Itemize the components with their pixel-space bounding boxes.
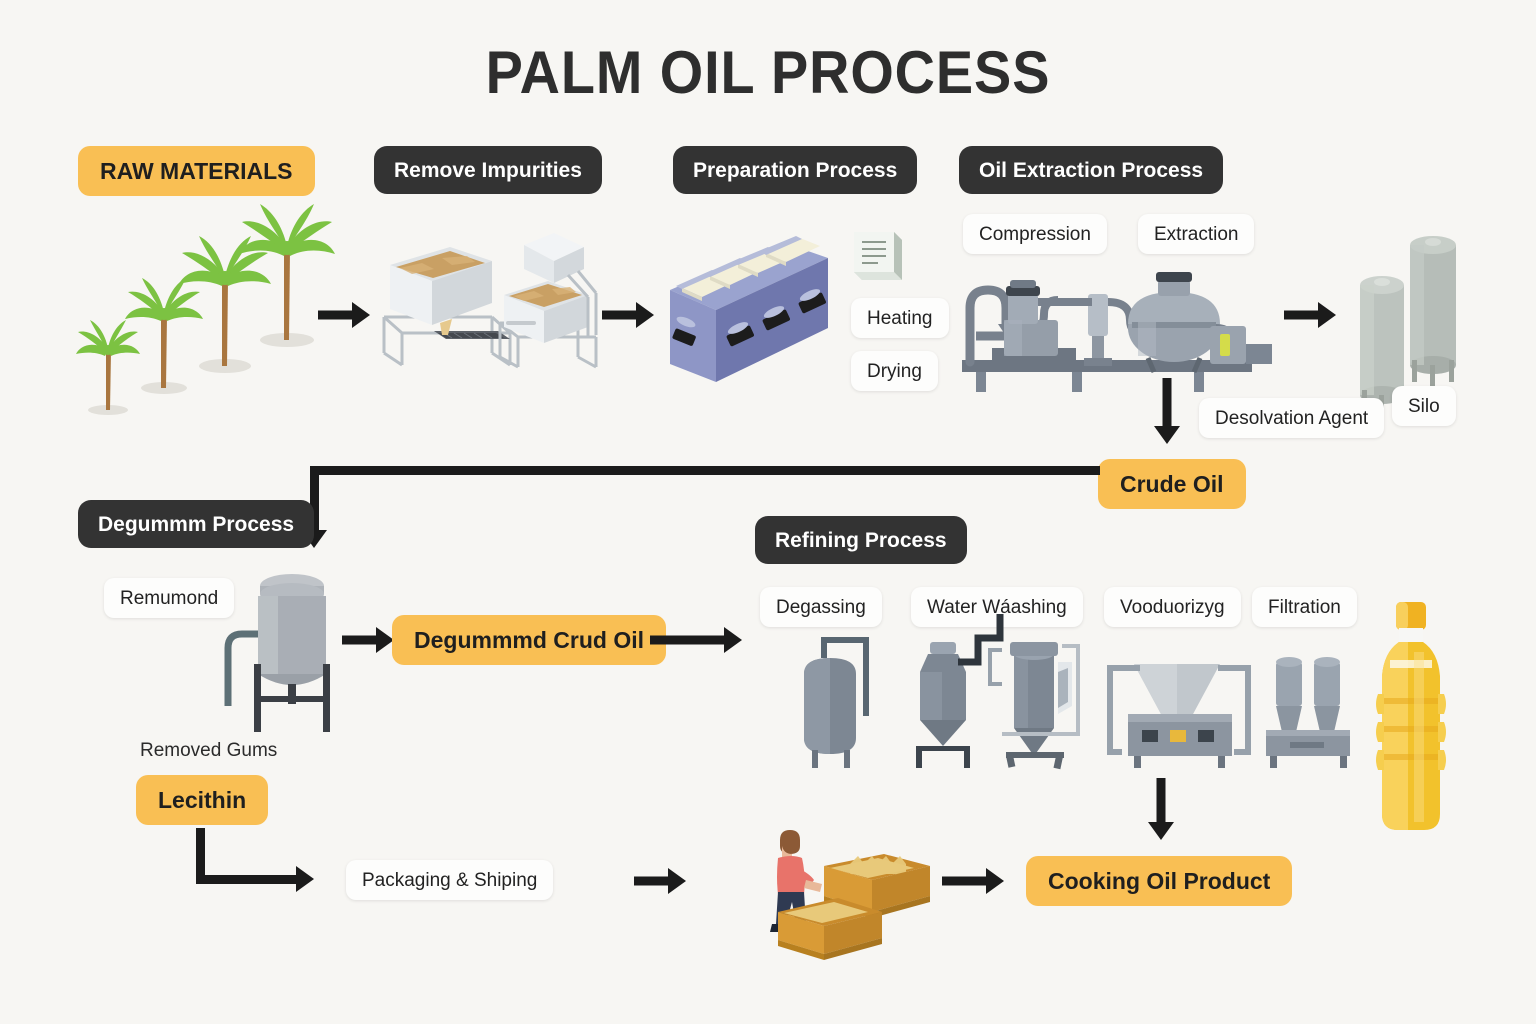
sub-label-drying[interactable]: Drying [851, 351, 938, 391]
sub-label-packaging-shipping[interactable]: Packaging & Shiping [346, 860, 553, 900]
oil-extraction-plant-illustration [962, 262, 1262, 392]
stage-pill-refining-process[interactable]: Refining Process [755, 516, 967, 564]
product-pill-degummed-crude-oil[interactable]: Degummmd Crud Oil [392, 615, 666, 665]
sub-label-desolvation-agent[interactable]: Desolvation Agent [1199, 398, 1384, 438]
sub-label-remumond[interactable]: Remumond [104, 578, 234, 618]
storage-silos-illustration [1342, 200, 1462, 400]
stage-pill-preparation-process[interactable]: Preparation Process [673, 146, 917, 194]
infographic-canvas: PALM OIL PROCESS RAW MATERIALS Remove Im… [0, 0, 1536, 1024]
sub-label-filtration[interactable]: Filtration [1252, 587, 1357, 627]
document-icon [848, 224, 908, 288]
flow-arrow-extraction-to-crude-oil [1152, 378, 1182, 444]
flow-arrow-extraction-to-silo [1284, 300, 1336, 330]
cooking-oil-bottle-illustration [1366, 598, 1456, 838]
product-pill-cooking-oil[interactable]: Cooking Oil Product [1026, 856, 1292, 906]
sub-label-removed-gums: Removed Gums [140, 740, 277, 762]
preparation-tray-unit-illustration [652, 224, 842, 394]
flow-connector-lecithin-to-packaging [196, 828, 336, 898]
stage-pill-degumming-process[interactable]: Degummm Process [78, 500, 314, 548]
product-pill-lecithin[interactable]: Lecithin [136, 775, 268, 825]
flow-connector-crude-oil-to-degumming [310, 466, 1110, 556]
flow-arrow-degumming-to-degummed-oil [342, 625, 394, 655]
flow-arrow-impurities-to-preparation [602, 300, 654, 330]
palm-trees-illustration [72, 228, 322, 418]
flow-arrow-degummed-oil-to-refining [650, 625, 742, 655]
flow-arrow-refining-to-cooking-oil [1146, 778, 1176, 840]
impurity-removal-machine-illustration [372, 225, 597, 370]
sub-label-compression[interactable]: Compression [963, 214, 1107, 254]
stage-pill-remove-impurities[interactable]: Remove Impurities [374, 146, 602, 194]
sub-label-extraction[interactable]: Extraction [1138, 214, 1254, 254]
stage-pill-raw-materials[interactable]: RAW MATERIALS [78, 146, 315, 196]
sub-label-degassing[interactable]: Degassing [760, 587, 882, 627]
sub-label-heating[interactable]: Heating [851, 298, 949, 338]
stage-pill-oil-extraction-process[interactable]: Oil Extraction Process [959, 146, 1223, 194]
sub-label-vooduorizyg[interactable]: Vooduorizyg [1104, 587, 1241, 627]
flow-arrow-raw-to-impurities [318, 300, 370, 330]
product-pill-crude-oil[interactable]: Crude Oil [1098, 459, 1246, 509]
refining-machines-illustration [762, 628, 1342, 768]
packaging-worker-crates-illustration [752, 820, 932, 960]
page-title: PALM OIL PROCESS [54, 38, 1482, 107]
sub-label-silo[interactable]: Silo [1392, 386, 1456, 426]
flow-arrow-worker-to-cooking-oil [942, 866, 1004, 896]
flow-arrow-packaging-to-worker [634, 866, 686, 896]
